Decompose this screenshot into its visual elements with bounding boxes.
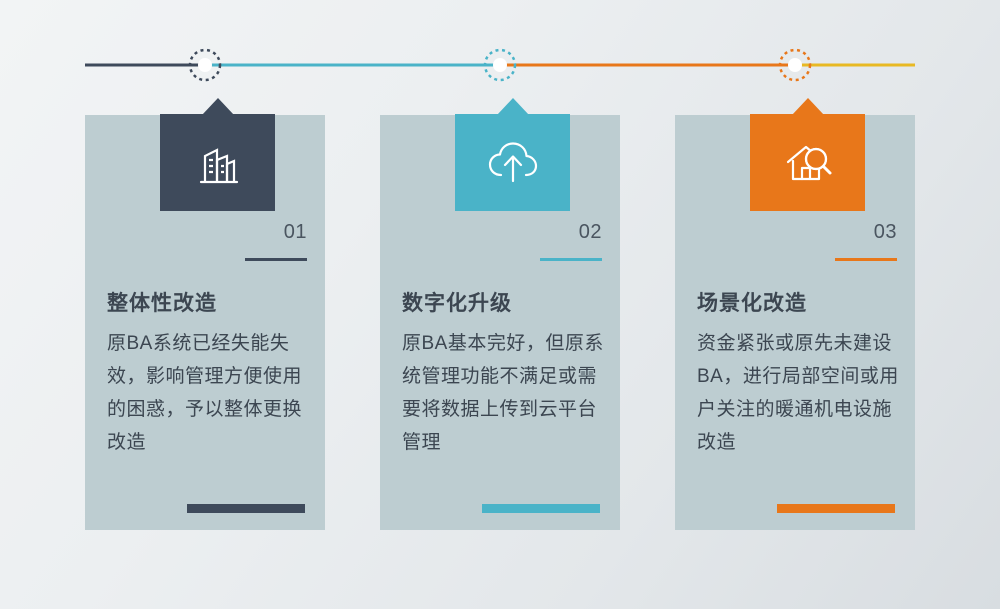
card-03-footer-bar [777,504,895,513]
card-02-pointer [497,98,529,115]
card-01-pointer [202,98,234,115]
card-02[interactable]: 02 数字化升级 原BA基本完好，但原系统管理功能不满足或需要将数据上传到云平台… [380,115,620,530]
card-03-pointer [792,98,824,115]
card-01[interactable]: 01 整体性改造 原BA系统已经失能失效，影响管理方便使用的困惑，予以整体更换改… [85,115,325,530]
card-02-footer-bar [482,504,600,513]
card-02-number: 02 [579,221,602,244]
house-search-icon [780,137,836,189]
building-icon [191,136,245,190]
card-01-rule [245,258,307,261]
card-01-title: 整体性改造 [107,287,217,317]
card-03[interactable]: 03 场景化改造 资金紧张或原先未建设BA，进行局部空间或用户关注的暖通机电设施… [675,115,915,530]
card-01-footer-bar [187,504,305,513]
slide-canvas: 01 整体性改造 原BA系统已经失能失效，影响管理方便使用的困惑，予以整体更换改… [0,0,1000,609]
card-02-title: 数字化升级 [402,287,512,317]
card-02-rule [540,258,602,261]
card-01-icon-box [160,114,275,211]
card-02-body: 原BA基本完好，但原系统管理功能不满足或需要将数据上传到云平台管理 [402,327,607,459]
card-03-icon-box [750,114,865,211]
card-03-rule [835,258,897,261]
card-01-body: 原BA系统已经失能失效，影响管理方便使用的困惑，予以整体更换改造 [107,327,312,459]
card-03-number: 03 [874,221,897,244]
timeline-graphic [0,0,1000,110]
card-01-number: 01 [284,221,307,244]
cloud-upload-icon [484,137,542,189]
card-03-title: 场景化改造 [697,287,807,317]
card-02-icon-box [455,114,570,211]
card-03-body: 资金紧张或原先未建设BA，进行局部空间或用户关注的暖通机电设施改造 [697,327,902,459]
